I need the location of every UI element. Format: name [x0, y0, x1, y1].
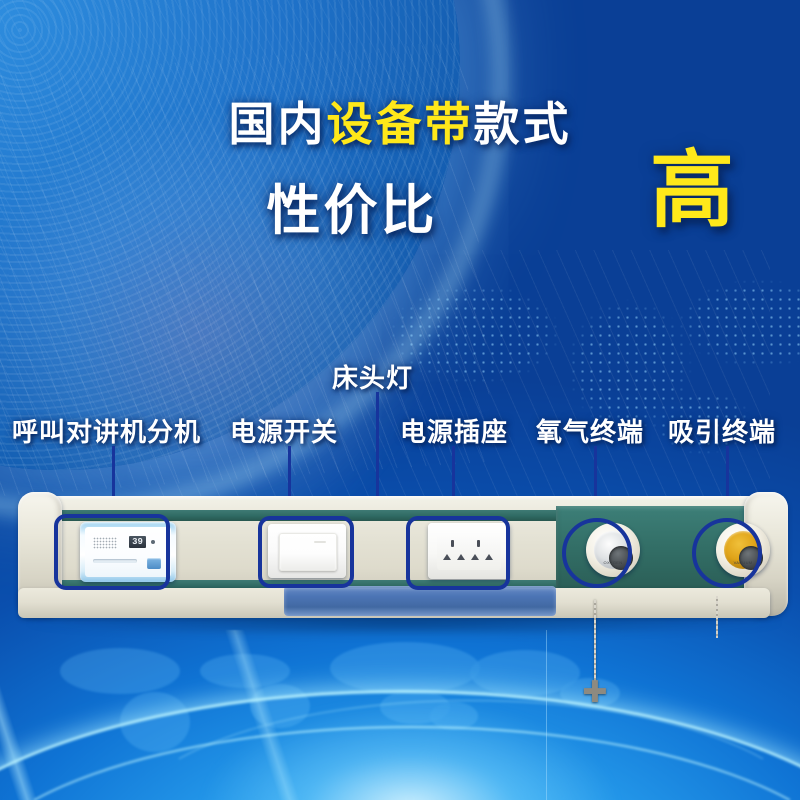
highlight-circle-oxygen	[562, 518, 632, 588]
callout-label-bed-lamp: 床头灯	[332, 358, 413, 395]
panel-lower-rail-blue-section	[284, 586, 556, 616]
highlight-box-intercom	[54, 514, 170, 590]
headline-emphasis-word: 高	[650, 148, 734, 232]
callout-label-power-socket: 电源插座	[400, 412, 508, 449]
callout-label-suction-terminal: 吸引终端	[668, 412, 776, 449]
highlight-box-power-socket	[406, 516, 510, 590]
callout-label-oxygen-terminal: 氧气终端	[536, 412, 644, 449]
callout-label-power-switch: 电源开关	[230, 412, 338, 449]
suction-hose-cord	[716, 596, 718, 638]
highlight-circle-suction	[692, 518, 762, 588]
headline-line1-part-b: 款式	[474, 98, 572, 150]
callout-label-intercom: 呼叫对讲机分机	[12, 412, 201, 449]
poster-canvas: 国内设备带款式 性价比 高 呼叫对讲机分机 电源开关 床头灯 电源插座 氧气终端…	[0, 0, 800, 800]
headline-line1-part-a: 国内	[229, 98, 327, 150]
highlight-box-power-switch	[258, 516, 354, 588]
pull-cord-handle-icon[interactable]: ✚	[580, 678, 610, 708]
headline-line1-highlight: 设备带	[327, 98, 474, 150]
headline-line2-text: 性价比	[267, 181, 438, 241]
vertical-guide-line	[546, 630, 547, 800]
